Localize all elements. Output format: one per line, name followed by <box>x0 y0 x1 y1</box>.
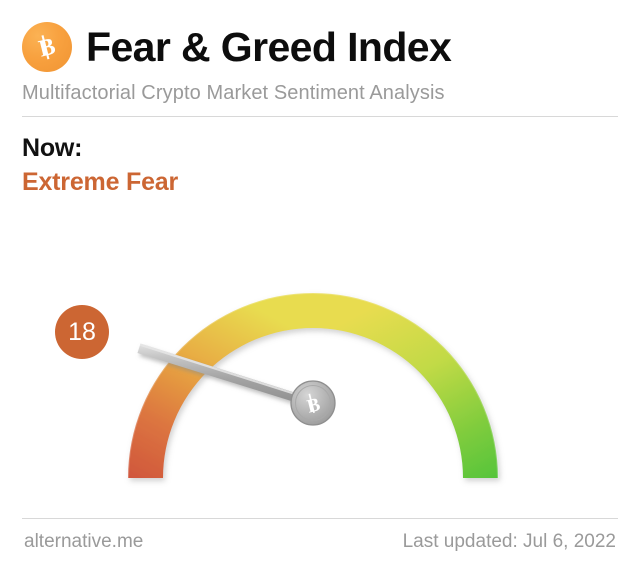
gauge-value-badge: 18 <box>55 305 109 359</box>
header-divider <box>22 116 618 117</box>
gauge-arc-left <box>128 293 313 478</box>
header: B Fear & Greed Index <box>22 18 618 76</box>
now-label: Now: <box>22 134 82 163</box>
footer-divider <box>22 518 618 519</box>
bitcoin-icon: B <box>22 22 72 72</box>
last-updated-label: Last updated: Jul 6, 2022 <box>403 531 616 553</box>
fear-greed-index-card: B Fear & Greed Index Multifactorial Cryp… <box>0 0 640 575</box>
gauge-hub: B <box>291 381 335 425</box>
gauge-arc-right <box>313 293 498 478</box>
page-subtitle: Multifactorial Crypto Market Sentiment A… <box>22 82 445 105</box>
gauge-value-text: 18 <box>68 320 96 345</box>
source-label: alternative.me <box>24 531 143 553</box>
page-title: Fear & Greed Index <box>86 27 451 68</box>
